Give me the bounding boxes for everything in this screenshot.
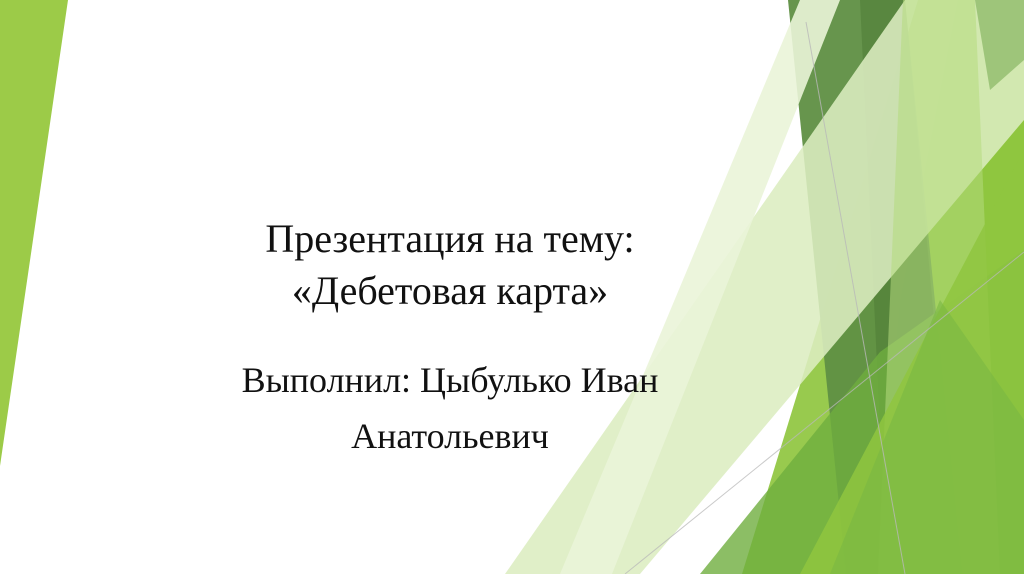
subtitle-line-1: Выполнил: Цыбулько Иван [120, 352, 780, 408]
title-line-1: Презентация на тему: [120, 213, 780, 265]
title-line-2: «Дебетовая карта» [120, 265, 780, 317]
subtitle-line-2: Анатольевич [120, 408, 780, 464]
slide-text-layer: Презентация на тему: «Дебетовая карта» В… [0, 0, 1024, 574]
slide-title: Презентация на тему: «Дебетовая карта» [120, 213, 780, 317]
presentation-slide: Презентация на тему: «Дебетовая карта» В… [0, 0, 1024, 574]
slide-subtitle: Выполнил: Цыбулько Иван Анатольевич [120, 352, 780, 464]
